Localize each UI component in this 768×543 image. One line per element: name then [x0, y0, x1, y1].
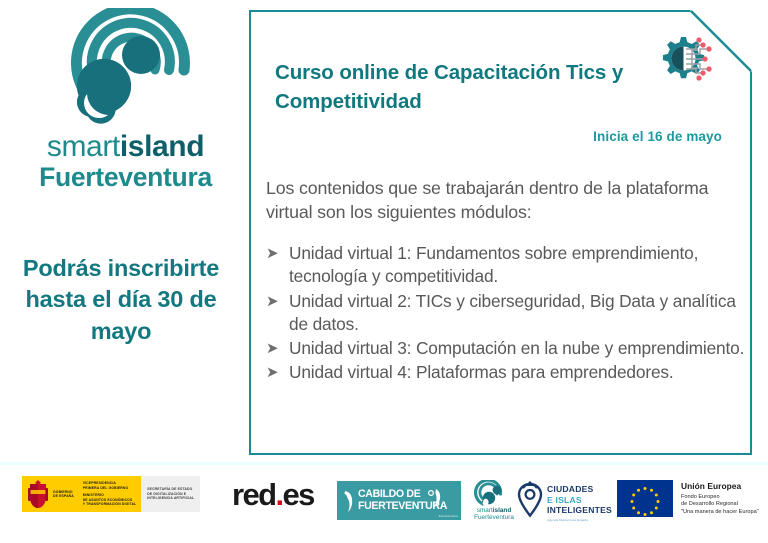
- smart-island-footer-logo: smartisland Fuerteventura: [466, 480, 522, 522]
- enrollment-deadline-text: Podrás inscribirte hasta el día 30 de ma…: [6, 253, 236, 347]
- eu-sub-line3: "Una manera de hacer Europa": [681, 509, 759, 516]
- si-footer-island: island: [493, 507, 511, 514]
- arrow-bullet-icon: ➤: [266, 338, 278, 360]
- flyer-canvas: smartisland Fuerteventura Podrás inscrib…: [0, 0, 768, 543]
- module-list: ➤ Unidad virtual 1: Fundamentos sobre em…: [261, 242, 751, 386]
- cabildo-fuerteventura-logo: CABILDO DE FUERTEVENTURA Fuerteventura: [337, 481, 461, 520]
- gobierno-text: GOBIERNO DE ESPAÑA: [53, 490, 74, 499]
- secretaria-line3: INTELIGENCIA ARTIFICIAL: [147, 496, 194, 500]
- module-label: Unidad virtual 1: Fundamentos sobre empr…: [289, 243, 698, 286]
- brand-word-island: island: [120, 130, 204, 163]
- smart-island-signal-icon: [466, 480, 522, 508]
- module-label: Unidad virtual 2: TICs y ciberseguridad,…: [289, 291, 736, 334]
- ciudades-subtitle: Agenda Digital para España: [547, 518, 612, 522]
- gobierno-de-espana-logo: GOBIERNO DE ESPAÑA VICEPRESIDENCIA PRIME…: [22, 476, 200, 512]
- intro-paragraph: Los contenidos que se trabajarán dentro …: [266, 176, 736, 224]
- module-label: Unidad virtual 3: Computación en la nube…: [289, 338, 744, 358]
- ciudades-islas-inteligentes-logo: CIUDADES E ISLAS INTELIGENTES Agenda Dig…: [515, 479, 607, 523]
- european-union-logo: Unión Europea Fondo Europeo de Desarroll…: [617, 480, 759, 517]
- ciudades-text: CIUDADES E ISLAS INTELIGENTES Agenda Dig…: [547, 484, 612, 522]
- brand-wordmark-line2: Fuerteventura: [28, 164, 223, 191]
- brand-wordmark: smartisland Fuerteventura: [28, 132, 223, 191]
- fuerteventura-turismo-icon: [425, 487, 445, 509]
- list-item: ➤ Unidad virtual 2: TICs y cibersegurida…: [261, 290, 751, 337]
- footer-divider: [0, 462, 768, 465]
- cabildo-secondary-label: Fuerteventura: [439, 514, 458, 518]
- arrow-bullet-icon: ➤: [266, 291, 278, 313]
- secretaria-estado-block: SECRETARÍA DE ESTADO DE DIGITALIZACIÓN E…: [141, 476, 200, 512]
- spain-coat-of-arms-icon: [26, 479, 50, 509]
- list-item: ➤ Unidad virtual 1: Fundamentos sobre em…: [261, 242, 751, 289]
- brand-wordmark-line1: smartisland: [28, 132, 223, 163]
- ministerio-text: VICEPRESIDENCIA PRIMERA DEL GOBIERNO MIN…: [83, 481, 137, 507]
- ciudades-line3: INTELIGENTES: [547, 505, 612, 516]
- arrow-bullet-icon: ➤: [266, 362, 278, 384]
- gobierno-yellow-block: GOBIERNO DE ESPAÑA VICEPRESIDENCIA PRIME…: [22, 476, 141, 512]
- arrow-bullet-icon: ➤: [266, 243, 278, 265]
- smart-island-brand-logo: smartisland Fuerteventura: [28, 8, 223, 193]
- course-title: Curso online de Capacitación Tics y Comp…: [275, 58, 675, 116]
- list-item: ➤ Unidad virtual 4: Plataformas para emp…: [261, 361, 751, 384]
- european-union-flag-icon: [617, 480, 673, 517]
- cabildo-emblem-icon: [342, 489, 355, 513]
- ministerio-line3: Y TRANSFORMACIÓN DIGITAL: [83, 502, 137, 507]
- smart-island-footer-wordmark: smartisland Fuerteventura: [466, 507, 522, 521]
- eu-text: Unión Europea Fondo Europeo de Desarroll…: [681, 481, 759, 516]
- course-info-panel: Curso online de Capacitación Tics y Comp…: [249, 10, 752, 455]
- eu-title: Unión Europea: [681, 481, 759, 492]
- eu-subtitle: Fondo Europeo de Desarrollo Regional "Un…: [681, 494, 759, 516]
- si-footer-fuerteventura: Fuerteventura: [466, 514, 522, 521]
- vicepresidencia-line2: PRIMERA DEL GOBIERNO: [83, 486, 137, 491]
- red-es-logo: red.es: [232, 479, 314, 510]
- start-date-label: Inicia el 16 de mayo: [593, 129, 722, 144]
- redes-word-red: red: [232, 477, 275, 512]
- secretaria-text: SECRETARÍA DE ESTADO DE DIGITALIZACIÓN E…: [147, 487, 194, 500]
- module-label: Unidad virtual 4: Plataformas para empre…: [289, 362, 674, 382]
- smart-island-signal-icon: [56, 8, 196, 130]
- ciudades-line1: CIUDADES: [547, 484, 612, 495]
- gobierno-line2: DE ESPAÑA: [53, 494, 74, 498]
- location-pin-icon: [515, 481, 545, 519]
- eu-sub-line2: de Desarrollo Regional: [681, 501, 759, 508]
- brand-word-smart: smart: [47, 130, 120, 163]
- eu-sub-line1: Fondo Europeo: [681, 494, 759, 501]
- list-item: ➤ Unidad virtual 3: Computación en la nu…: [261, 337, 751, 360]
- ciudades-line2: E ISLAS: [547, 495, 612, 506]
- redes-word-es: es: [282, 477, 313, 512]
- si-footer-smart: smart: [477, 507, 493, 514]
- panel-content: Curso online de Capacitación Tics y Comp…: [251, 12, 750, 453]
- left-column: smartisland Fuerteventura Podrás inscrib…: [0, 0, 240, 462]
